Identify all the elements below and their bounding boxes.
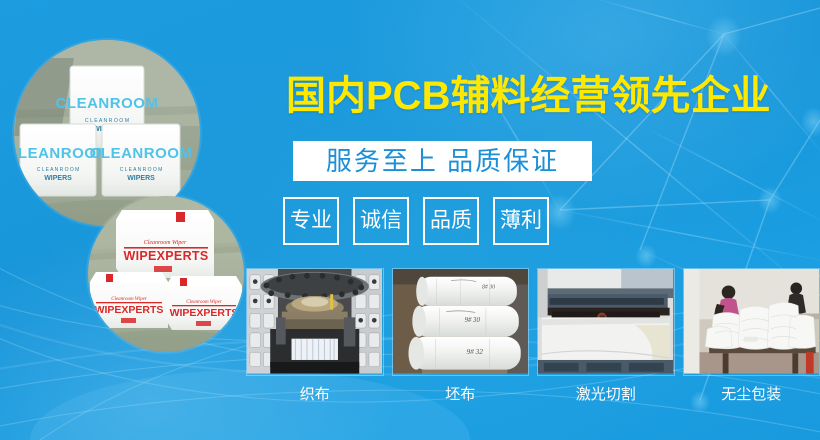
process-caption-0: 织布 bbox=[300, 386, 330, 404]
process-item-2[interactable]: 激光切割 bbox=[537, 268, 675, 420]
process-item-0[interactable]: 织布 bbox=[246, 268, 384, 420]
subtitle-text: 服务至上 品质保证 bbox=[326, 146, 559, 176]
page-title: 国内PCB辅料经营领先企业 bbox=[286, 72, 770, 120]
product-photo-wipexperts: Cleanroom Wiper WIPEXPERTS Cleanroom Wip… bbox=[88, 196, 244, 352]
svg-text:CLEANROOM: CLEANROOM bbox=[56, 95, 159, 112]
feature-tag-label: 品质 bbox=[430, 209, 472, 233]
svg-text:WIPERS: WIPERS bbox=[127, 175, 155, 182]
svg-text:9# 30: 9# 30 bbox=[464, 317, 480, 324]
feature-tag-3[interactable]: 薄利 bbox=[493, 197, 549, 245]
process-caption-2: 激光切割 bbox=[576, 386, 636, 404]
feature-tag-label: 专业 bbox=[290, 209, 332, 233]
svg-text:Cleanroom Wiper: Cleanroom Wiper bbox=[111, 297, 147, 302]
svg-text:WIPERS: WIPERS bbox=[44, 175, 72, 182]
svg-text:WIPEXPERTS: WIPEXPERTS bbox=[170, 307, 239, 319]
process-photo-3 bbox=[683, 268, 820, 376]
subtitle-band: 服务至上 品质保证 bbox=[293, 141, 592, 181]
promo-banner: CLEANROOM C L E A N R O O M WIPERS CLEAN… bbox=[0, 0, 820, 440]
svg-text:Cleanroom Wiper: Cleanroom Wiper bbox=[144, 240, 187, 246]
packaging-icon bbox=[684, 269, 819, 374]
svg-text:WIPEXPERTS: WIPEXPERTS bbox=[95, 304, 164, 316]
svg-text:C L E A N R O O M: C L E A N R O O M bbox=[120, 167, 163, 173]
feature-tag-list: 专业 诚信 品质 薄利 bbox=[283, 197, 549, 245]
feature-tag-label: 薄利 bbox=[500, 209, 542, 233]
process-photo-2 bbox=[537, 268, 675, 376]
fabric-rolls-icon: 8# 30 9# 30 9# 32 bbox=[393, 269, 528, 374]
process-item-3[interactable]: 无尘包装 bbox=[683, 268, 820, 420]
process-photo-1: 8# 30 9# 30 9# 32 bbox=[392, 268, 530, 376]
feature-tag-0[interactable]: 专业 bbox=[283, 197, 339, 245]
feature-tag-label: 诚信 bbox=[360, 209, 402, 233]
process-item-1[interactable]: 8# 30 9# 30 9# 32 bbox=[392, 268, 530, 420]
svg-text:CLEANROOM: CLEANROOM bbox=[90, 145, 193, 162]
feature-tag-2[interactable]: 品质 bbox=[423, 197, 479, 245]
feature-tag-1[interactable]: 诚信 bbox=[353, 197, 409, 245]
knitting-machine-icon bbox=[247, 269, 382, 374]
svg-text:WIPEXPERTS: WIPEXPERTS bbox=[124, 249, 209, 263]
svg-text:C L E A N R O O M: C L E A N R O O M bbox=[37, 167, 80, 173]
process-photo-0 bbox=[246, 268, 384, 376]
wipexperts-wipes-image: Cleanroom Wiper WIPEXPERTS Cleanroom Wip… bbox=[88, 196, 244, 352]
svg-text:C L E A N R O O M: C L E A N R O O M bbox=[85, 118, 129, 124]
process-caption-3: 无尘包装 bbox=[721, 386, 781, 404]
svg-text:9# 32: 9# 32 bbox=[466, 348, 483, 356]
process-caption-1: 坯布 bbox=[445, 386, 475, 404]
svg-text:Cleanroom Wiper: Cleanroom Wiper bbox=[186, 300, 222, 305]
svg-text:8# 30: 8# 30 bbox=[482, 284, 495, 290]
laser-cutter-icon bbox=[538, 269, 673, 374]
process-photo-strip: 织布 bbox=[246, 268, 820, 420]
